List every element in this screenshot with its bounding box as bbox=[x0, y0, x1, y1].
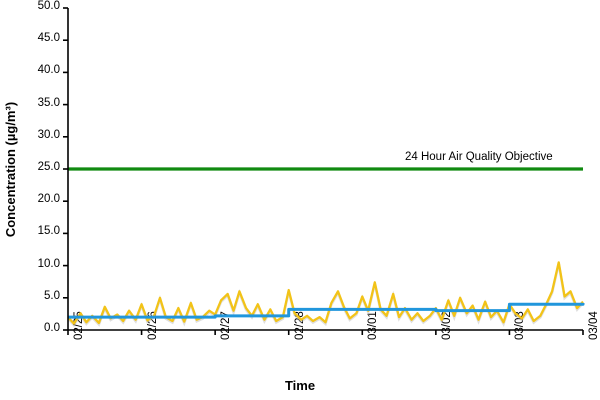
axis-lines bbox=[63, 8, 583, 335]
plot-area bbox=[0, 0, 600, 400]
air-quality-chart: Concentration (µg/m³) Time 0.05.010.015.… bbox=[0, 0, 600, 400]
